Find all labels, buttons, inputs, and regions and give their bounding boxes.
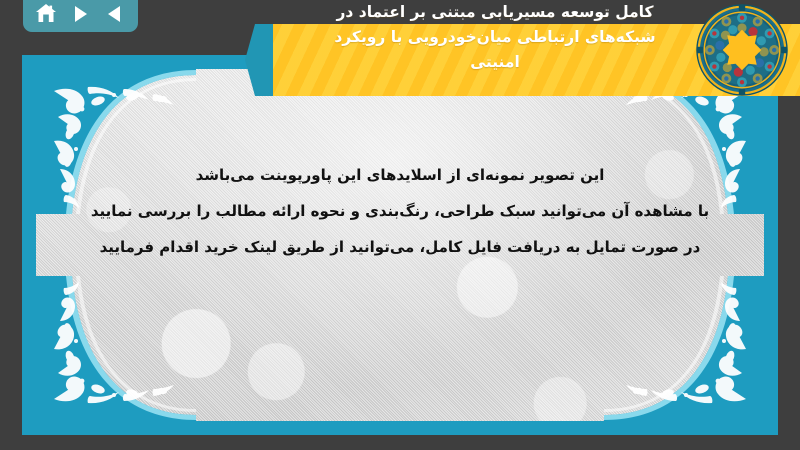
corner-ornament-bottom-right bbox=[604, 276, 764, 421]
previous-slide-button[interactable] bbox=[100, 1, 130, 27]
corner-ornament-bottom-left bbox=[36, 276, 196, 421]
home-button[interactable] bbox=[31, 1, 61, 27]
triangle-left-icon bbox=[106, 5, 123, 23]
slide-viewer: کامل توسعه مسیریابی مبتنی بر اعتماد در ش… bbox=[0, 0, 800, 450]
slide-canvas: این تصویر نمونه‌ای از اسلایدهای این پاور… bbox=[36, 69, 764, 421]
banner-left-tab bbox=[255, 24, 273, 96]
corner-ornament-top-left bbox=[36, 69, 196, 214]
next-slide-button[interactable] bbox=[66, 1, 96, 27]
body-line-2: با مشاهده آن می‌توانید سبک طراحی، رنگ‌بن… bbox=[36, 193, 764, 229]
body-line-3: در صورت تمایل به دریافت فایل کامل، می‌تو… bbox=[36, 229, 764, 265]
title-line-1: کامل توسعه مسیریابی مبتنی بر اعتماد در bbox=[280, 0, 710, 25]
navigation-toolbar bbox=[23, 0, 138, 32]
triangle-right-icon bbox=[72, 5, 89, 23]
body-line-1: این تصویر نمونه‌ای از اسلایدهای این پاور… bbox=[36, 157, 764, 193]
slide-card: این تصویر نمونه‌ای از اسلایدهای این پاور… bbox=[22, 55, 778, 435]
persian-medallion-icon bbox=[696, 4, 788, 96]
home-icon bbox=[35, 4, 57, 24]
slide-body-text: این تصویر نمونه‌ای از اسلایدهای این پاور… bbox=[36, 157, 764, 265]
